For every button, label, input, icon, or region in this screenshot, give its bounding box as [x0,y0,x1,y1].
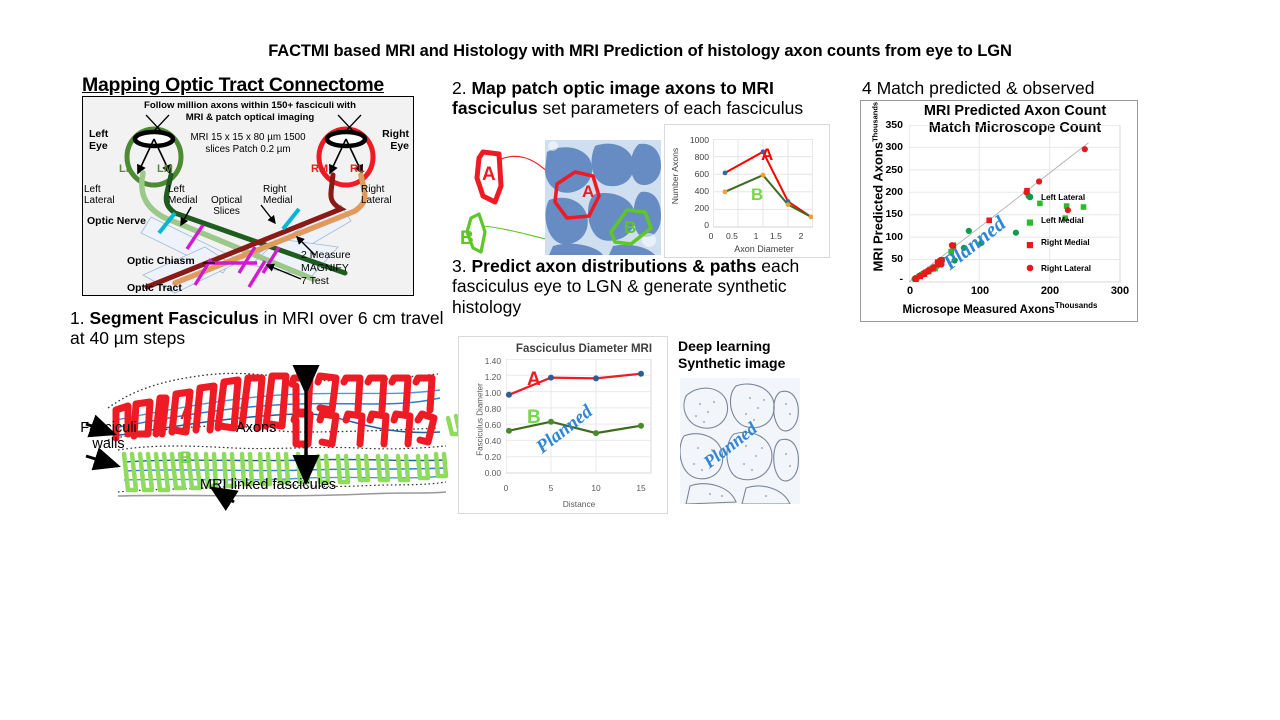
label-optic-chiasm: Optic Chiasm [127,255,195,267]
map-label-a: A [482,164,496,186]
scatter-xtick: 300 [1107,285,1133,297]
segment-label-a: A [180,404,192,424]
label-optic-nerve: Optic Nerve [87,215,146,227]
label-left-medial: LeftMedial [168,184,197,206]
deep-learning-heading: Deep learningSynthetic image [678,338,785,372]
scatter-xtick: 0 [897,285,923,297]
axon-ytick: 800 [677,152,709,162]
scatter-ytick: 100 [877,231,903,243]
axon-diameter-chart: Number Axons Axon Diameter 1000 800 600 … [664,124,830,258]
scatter-ytick: - [877,273,903,285]
label-axons: Axons [236,420,276,436]
scatter-xlabel-sup: Thousands [1055,301,1098,310]
segment-bold-text: Segment Fasciculus [89,308,258,328]
label-right-eye: RightEye [361,129,409,152]
scatter-title-line1: MRI Predicted Axon Count [924,103,1106,119]
fd-xtick: 0 [499,483,513,493]
legend-marker-right-medial [1027,242,1033,248]
axon-ytick: 600 [677,169,709,179]
fd-annotation-b: B [527,407,541,429]
map-panel-heading: 2. Map patch optic image axons to MRI fa… [452,78,842,119]
label-rl: RL [350,163,365,175]
scatter-xtick: 200 [1037,285,1063,297]
label-right-medial: RightMedial [263,184,292,206]
axon-xtick: 0 [703,231,719,241]
segment-label-b: B [180,448,192,468]
scatter-xlabel-text: Microsope Measured Axons [903,304,1055,316]
label-fasciculi-walls: Fasciculi walls [66,420,151,452]
axon-chart-annotation-b: B [751,185,763,205]
axon-ytick: 400 [677,186,709,196]
fd-ytick: 1.00 [467,388,501,398]
scatter-ytick: 250 [877,164,903,176]
patch-label-a: A [582,182,594,202]
axon-xtick: 0.5 [722,231,742,241]
axon-xtick: 1 [748,231,764,241]
fd-ytick: 0.00 [467,468,501,478]
scatter-ytick: 200 [877,186,903,198]
fd-xtick: 15 [634,483,648,493]
map-rest-text: set parameters of each fasciculus [538,98,804,118]
label-left-lateral: LeftLateral [84,184,115,206]
predicted-vs-observed-scatter-chart: MRI Predicted Axon Count Match Microscop… [860,100,1138,322]
map-number: 2. [452,78,467,98]
fd-xtick: 5 [544,483,558,493]
axon-ytick: 0 [677,220,709,230]
slide-title: FACTMI based MRI and Histology with MRI … [0,42,1280,61]
match-heading-text: Match predicted & observed [872,78,1095,98]
legend-marker-right-lateral [1027,265,1034,272]
axon-ytick: 200 [677,203,709,213]
legend-label-right-lateral: Right Lateral [1041,264,1091,273]
label-rm: RM [311,163,328,175]
scatter-xlabel: Microsope Measured AxonsThousands [861,301,1139,316]
label-ll: LL [119,163,132,175]
optic-tract-diagram: Follow million axons within 150+ fascicu… [82,96,414,296]
map-label-b: B [460,228,474,250]
label-mri-linked-fascicules: MRI linked fascicules [200,477,336,493]
scatter-ytick: 50 [877,253,903,265]
axon-xtick: 1.5 [766,231,786,241]
axon-chart-annotation-a: A [761,145,773,165]
axon-chart-xlabel: Axon Diameter [699,244,829,254]
scatter-xtick: 100 [967,285,993,297]
label-measure-magnify-test: 2 MeasureMAGNIFY7 Test [301,249,351,287]
fd-ytick: 0.40 [467,436,501,446]
fd-xtick: 10 [589,483,603,493]
label-lm: LM [157,163,173,175]
fd-chart-title: Fasciculus Diameter MRI [505,343,663,355]
scatter-ytick: 350 [877,119,903,131]
fd-annotation-a: A [527,369,541,391]
optical-patch-histology-image [545,140,661,255]
legend-marker-left-lateral [1027,194,1034,201]
label-left-eye: LeftEye [89,129,108,152]
axon-xtick: 2 [793,231,809,241]
label-right-lateral: RightLateral [361,184,392,206]
segment-panel-heading: 1. Segment Fasciculus in MRI over 6 cm t… [70,308,460,349]
predict-bold-text: Predict axon distributions & paths [471,256,756,276]
patch-label-b: B [624,218,636,238]
legend-label-right-medial: Right Medial [1041,238,1090,247]
fd-ytick: 1.20 [467,372,501,382]
legend-marker-left-medial [1027,220,1033,226]
scatter-ytick: 150 [877,208,903,220]
scatter-ylabel-text: MRI Predicted Axons [871,142,886,272]
synthetic-histology-image: Planned [680,378,800,504]
fasciculus-diameter-chart: Fasciculus Diameter MRI Fasciculus Diame… [458,336,668,514]
axon-ytick: 1000 [677,135,709,145]
fd-chart-xlabel: Distance [499,499,659,509]
label-optical-slices: OpticalSlices [211,195,242,217]
match-panel-heading: 4 Match predicted & observed [862,78,1182,98]
connectome-panel-title: Mapping Optic Tract Connectome [82,74,384,97]
predict-panel-heading: 3. Predict axon distributions & paths ea… [452,256,842,317]
legend-label-left-lateral: Left Lateral [1041,193,1085,202]
fd-ytick: 0.80 [467,404,501,414]
fd-ytick: 0.60 [467,420,501,430]
scatter-ytick: 300 [877,141,903,153]
predict-number: 3. [452,256,467,276]
label-optic-tract: Optic Tract [127,282,182,294]
fd-ytick: 0.20 [467,452,501,462]
segment-number: 1. [70,308,85,328]
legend-label-left-medial: Left Medial [1041,216,1084,225]
fd-ytick: 1.40 [467,356,501,366]
